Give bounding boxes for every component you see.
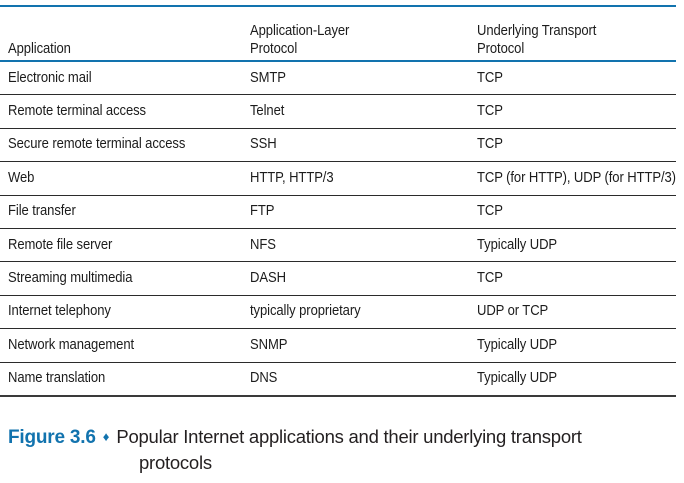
cell-application: Electronic mail <box>8 69 226 88</box>
table-row: Network management SNMP Typically UDP <box>0 329 676 361</box>
table-row: Secure remote terminal access SSH TCP <box>0 129 676 161</box>
cell-application: Internet telephony <box>8 302 226 321</box>
cell-application: Web <box>8 169 226 188</box>
figure-caption: Figure 3.6 ♦ Popular Internet applicatio… <box>8 426 676 474</box>
cell-protocol: DNS <box>250 369 454 388</box>
cell-protocol: Telnet <box>250 102 454 121</box>
header-cell-application-layer-protocol: Application-Layer Protocol <box>250 23 477 59</box>
diamond-icon: ♦ <box>103 430 110 443</box>
cell-application: Streaming multimedia <box>8 269 226 288</box>
cell-application: Network management <box>8 336 226 355</box>
table-row: Web HTTP, HTTP/3 TCP (for HTTP), UDP (fo… <box>0 162 676 194</box>
header-cell-application: Application <box>0 41 250 59</box>
cell-protocol: FTP <box>250 202 454 221</box>
cell-transport: TCP (for HTTP), UDP (for HTTP/3) <box>477 169 656 188</box>
cell-application: Remote file server <box>8 236 226 255</box>
cell-transport: Typically UDP <box>477 369 656 388</box>
caption-text-line-1: Popular Internet applications and their … <box>116 426 581 448</box>
cell-transport: Typically UDP <box>477 336 656 355</box>
cell-protocol: DASH <box>250 269 454 288</box>
cell-application: Name translation <box>8 369 226 388</box>
table-row: Remote terminal access Telnet TCP <box>0 95 676 127</box>
cell-protocol: SSH <box>250 135 454 154</box>
caption-text-line-2: protocols <box>139 452 676 474</box>
cell-protocol: typically proprietary <box>250 302 454 321</box>
table-row: Electronic mail SMTP TCP <box>0 62 676 94</box>
table-header-row: Application Application-Layer Protocol U… <box>0 7 676 60</box>
cell-transport: TCP <box>477 135 656 154</box>
cell-protocol: HTTP, HTTP/3 <box>250 169 454 188</box>
cell-protocol: SMTP <box>250 69 454 88</box>
table-row: Name translation DNS Typically UDP <box>0 363 676 395</box>
cell-transport: UDP or TCP <box>477 302 656 321</box>
cell-application: Secure remote terminal access <box>8 135 226 154</box>
cell-protocol: SNMP <box>250 336 454 355</box>
caption-first-line: Figure 3.6 ♦ Popular Internet applicatio… <box>8 426 676 449</box>
cell-application: Remote terminal access <box>8 102 226 121</box>
figure-number-label: Figure 3.6 <box>8 427 96 449</box>
table-row: File transfer FTP TCP <box>0 196 676 228</box>
header-cell-underlying-transport-protocol: Underlying Transport Protocol <box>477 23 676 59</box>
cell-transport: TCP <box>477 269 656 288</box>
cell-transport: TCP <box>477 69 656 88</box>
table-row: Remote file server NFS Typically UDP <box>0 229 676 261</box>
cell-transport: Typically UDP <box>477 236 656 255</box>
cell-protocol: NFS <box>250 236 454 255</box>
cell-transport: TCP <box>477 102 656 121</box>
table-row: Internet telephony typically proprietary… <box>0 296 676 328</box>
applications-transport-table: Application Application-Layer Protocol U… <box>0 0 676 397</box>
figure-3-6: Application Application-Layer Protocol U… <box>0 0 684 483</box>
cell-transport: TCP <box>477 202 656 221</box>
table-row: Streaming multimedia DASH TCP <box>0 262 676 294</box>
cell-application: File transfer <box>8 202 226 221</box>
table-bottom-rule <box>0 395 676 397</box>
